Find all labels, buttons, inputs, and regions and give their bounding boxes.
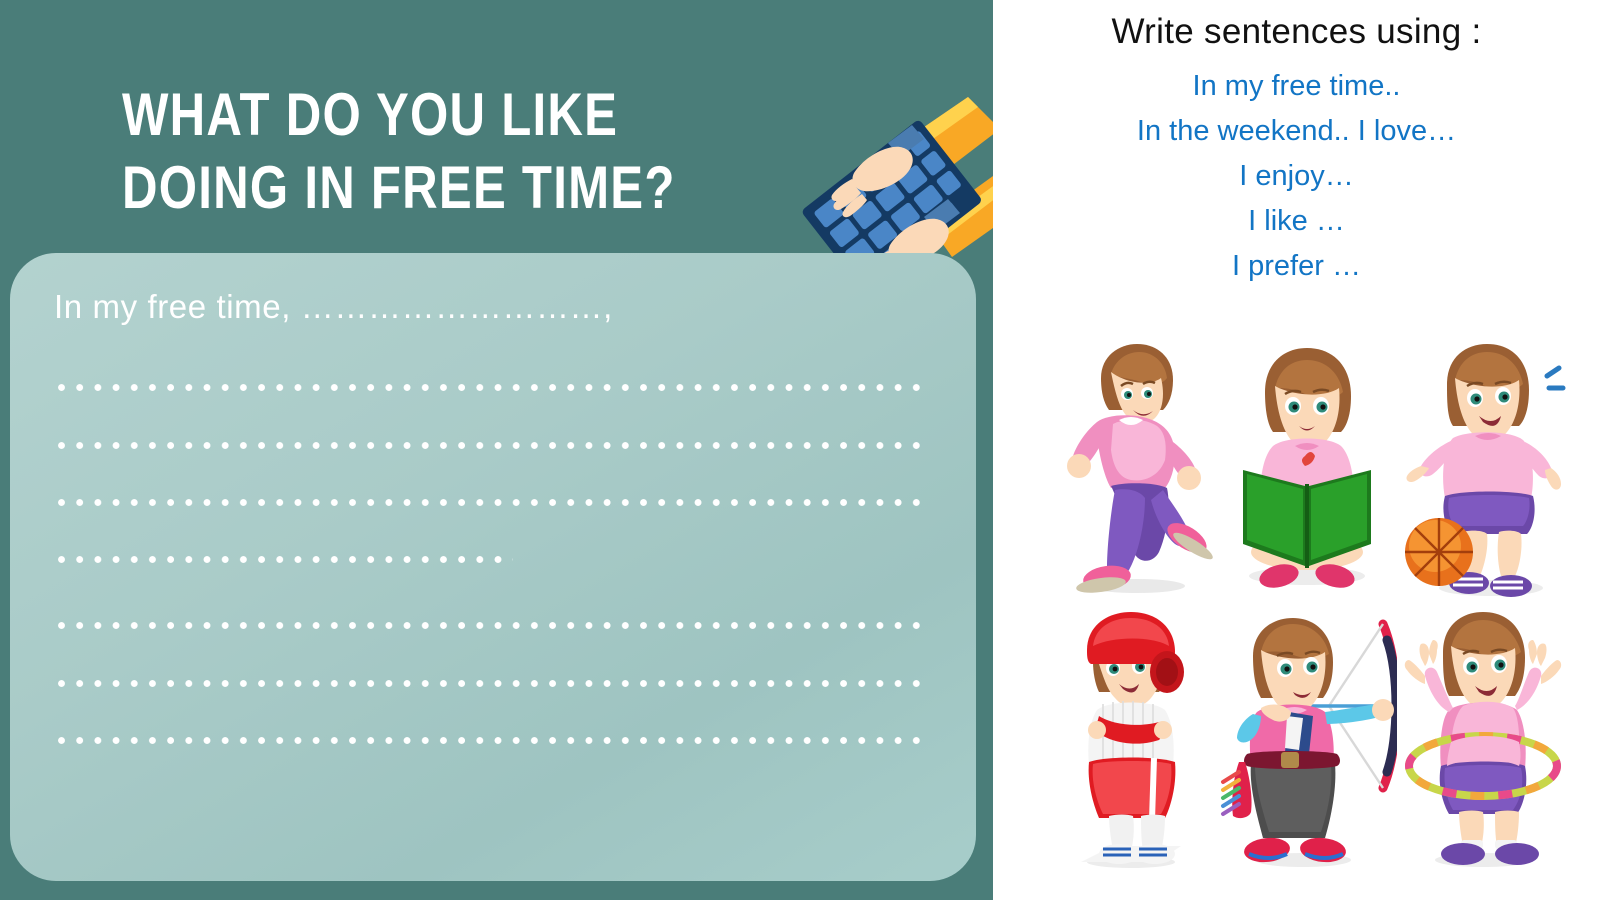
writing-card[interactable]: In my free time, ………………………, (10, 253, 976, 881)
ruled-line-1 (58, 384, 928, 391)
illustration-girl-hula-hoop (1391, 606, 1571, 871)
sentence-starter-2: In the weekend.. I love… (993, 109, 1600, 154)
ruled-line-2 (58, 442, 928, 449)
illustration-girl-basketball (1391, 338, 1571, 603)
right-white-panel: Write sentences using : In my free time.… (993, 0, 1600, 900)
left-teal-panel: WHAT DO YOU LIKE DOING IN FREE TIME? (0, 0, 993, 900)
ruled-line-3 (58, 499, 928, 506)
sentence-starter-4: I like … (993, 199, 1600, 244)
illustration-girl-running (1041, 338, 1221, 603)
worksheet-slide: WHAT DO YOU LIKE DOING IN FREE TIME? (0, 0, 1600, 900)
sentence-starter-3: I enjoy… (993, 154, 1600, 199)
illustration-girl-baseball (1041, 606, 1221, 871)
ruled-line-4 (58, 556, 513, 563)
sentence-starter-1: In my free time.. (993, 64, 1600, 109)
illustration-girl-archery (1217, 606, 1397, 871)
ruled-line-7 (58, 737, 928, 744)
ruled-line-6 (58, 680, 928, 687)
sentence-starter-5: I prefer … (993, 244, 1600, 289)
page-title: WHAT DO YOU LIKE DOING IN FREE TIME? (122, 78, 745, 224)
illustration-girl-reading (1217, 338, 1397, 603)
ruled-line-5 (58, 622, 928, 629)
activity-illustration-grid (1033, 338, 1573, 888)
instruction-heading: Write sentences using : (993, 12, 1600, 52)
prompt-line: In my free time, ………………………, (54, 288, 613, 326)
sentence-starter-list: In my free time.. In the weekend.. I lov… (993, 64, 1600, 289)
